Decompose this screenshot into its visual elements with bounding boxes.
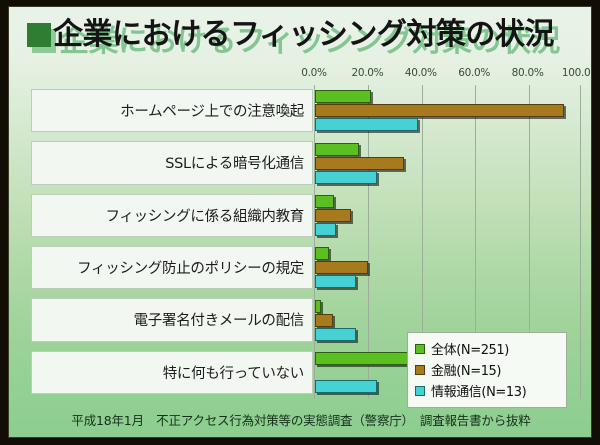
bar (315, 275, 356, 288)
category-label-box: 特に何も行っていない (31, 351, 313, 394)
bar (315, 223, 336, 236)
legend-swatch-finance-icon (415, 365, 425, 375)
legend-label: 全体(N=251) (431, 339, 509, 358)
slide-title-bar: 企業におけるフィッシング対策の状況 企業におけるフィッシング対策の状況 (9, 7, 592, 65)
x-axis-tick-label: 80.0% (512, 67, 544, 79)
x-axis-tick-label: 100.0% (562, 67, 592, 79)
bar (315, 195, 334, 208)
legend-label: 金融(N=15) (431, 360, 501, 379)
legend-swatch-overall-icon (415, 344, 425, 354)
category-label: 特に何も行っていない (163, 362, 304, 383)
bar (315, 171, 377, 184)
bar (315, 247, 329, 260)
category-label: SSLによる暗号化通信 (165, 152, 304, 173)
category-label: 電子署名付きメールの配信 (134, 309, 304, 330)
x-axis-tick-label: 40.0% (405, 67, 437, 79)
bar (315, 314, 333, 327)
bar-chart: 0.0%20.0%40.0%60.0%80.0%100.0% ホームページ上での… (15, 65, 587, 405)
bar (315, 118, 418, 131)
category-label: フィッシング防止のポリシーの規定 (77, 257, 304, 278)
x-axis-tick-label: 0.0% (301, 67, 326, 79)
category-label-box: 電子署名付きメールの配信 (31, 298, 313, 341)
category-label: ホームページ上での注意喚起 (120, 100, 304, 121)
bar (315, 261, 368, 274)
bar (315, 209, 351, 222)
bar (315, 143, 359, 156)
category-label-box: ホームページ上での注意喚起 (31, 89, 313, 132)
green-square-bullet-icon (27, 23, 51, 47)
legend-label: 情報通信(N=13) (431, 381, 526, 400)
bar (315, 328, 356, 341)
slide-source-footer: 平成18年1月 不正アクセス行為対策等の実態調査（警察庁） 調査報告書から抜粋 (9, 410, 592, 429)
category-label: フィッシングに係る組織内教育 (105, 205, 304, 226)
bar (315, 300, 321, 313)
legend-item[interactable]: 金融(N=15) (415, 359, 559, 380)
presentation-slide: 企業におけるフィッシング対策の状況 企業におけるフィッシング対策の状況 0.0%… (8, 6, 592, 438)
x-axis-tick-label: 60.0% (458, 67, 490, 79)
legend-item[interactable]: 情報通信(N=13) (415, 380, 559, 401)
category-label-box: フィッシング防止のポリシーの規定 (31, 246, 313, 289)
x-axis-tick-label: 20.0% (351, 67, 383, 79)
page-title: 企業におけるフィッシング対策の状況 (53, 13, 554, 57)
legend-item[interactable]: 全体(N=251) (415, 338, 559, 359)
chart-legend: 全体(N=251) 金融(N=15) 情報通信(N=13) (407, 332, 567, 408)
bar (315, 157, 404, 170)
bar (315, 90, 371, 103)
bar (315, 104, 564, 117)
legend-swatch-infocom-icon (415, 386, 425, 396)
category-label-box: SSLによる暗号化通信 (31, 141, 313, 184)
category-label-box: フィッシングに係る組織内教育 (31, 194, 313, 237)
bar (315, 380, 377, 393)
